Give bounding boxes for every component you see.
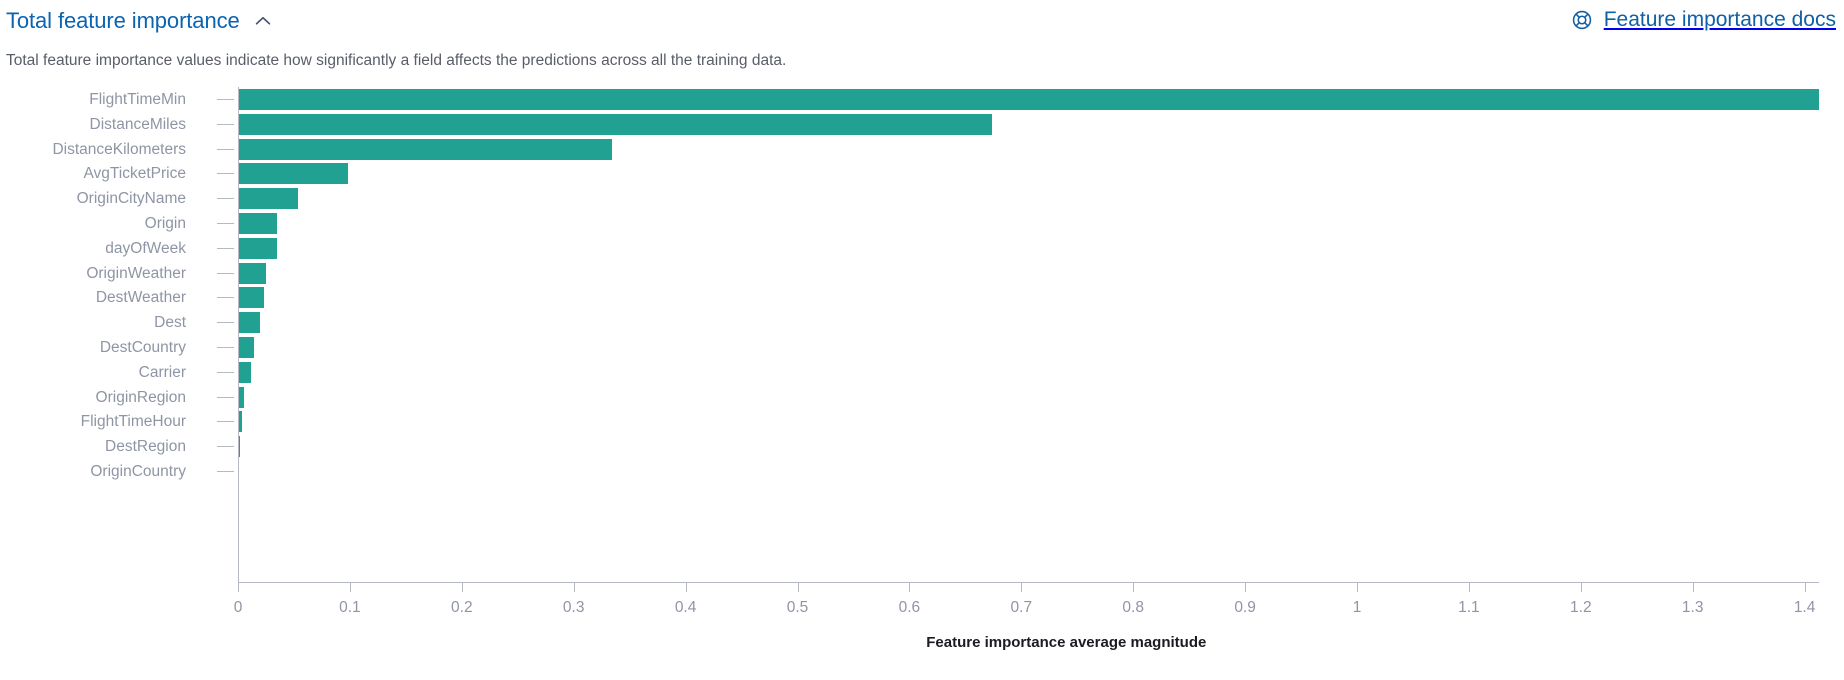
bar-category-label: Carrier: [0, 360, 186, 385]
bar-category-label: dayOfWeek: [0, 236, 186, 261]
x-axis-tickmark: [798, 583, 799, 592]
y-axis-line: [238, 87, 239, 582]
docs-link-label: Feature importance docs: [1604, 6, 1836, 34]
x-axis-tick-label: 0.5: [787, 598, 809, 618]
x-axis-tick-label: 1.4: [1794, 598, 1816, 618]
x-axis-tickmark: [1245, 583, 1246, 592]
chevron-up-icon[interactable]: [252, 10, 274, 32]
bar-row[interactable]: dayOfWeek: [0, 236, 1844, 261]
total-feature-importance-toggle[interactable]: Total feature importance: [6, 6, 274, 36]
bar-row[interactable]: OriginRegion: [0, 385, 1844, 410]
y-axis-tickmark: [217, 421, 234, 422]
x-axis-tickmark: [462, 583, 463, 592]
bar-row[interactable]: OriginCityName: [0, 186, 1844, 211]
x-axis-tick-label: 0.2: [451, 598, 473, 618]
y-axis-tickmark: [217, 471, 234, 472]
x-axis-tick-label: 1.3: [1682, 598, 1704, 618]
help-life-ring-icon: [1571, 9, 1593, 31]
bar-category-label: Dest: [0, 310, 186, 335]
bar-row[interactable]: Dest: [0, 310, 1844, 335]
bar[interactable]: [238, 362, 251, 383]
y-axis-tickmark: [217, 297, 234, 298]
x-axis-tick-label: 0: [234, 598, 243, 618]
y-axis-tickmark: [217, 124, 234, 125]
x-axis-tickmark: [350, 583, 351, 592]
bar[interactable]: [238, 89, 1819, 110]
y-axis-tickmark: [217, 223, 234, 224]
bar[interactable]: [238, 139, 612, 160]
x-axis-tick-label: 1: [1353, 598, 1362, 618]
y-axis-tickmark: [217, 397, 234, 398]
bar-row[interactable]: FlightTimeMin: [0, 87, 1844, 112]
bar[interactable]: [238, 312, 260, 333]
y-axis-tickmark: [217, 446, 234, 447]
bar[interactable]: [238, 213, 277, 234]
bar-category-label: AvgTicketPrice: [0, 161, 186, 186]
y-axis-tickmark: [217, 248, 234, 249]
y-axis-tickmark: [217, 99, 234, 100]
x-axis-tickmark: [1133, 583, 1134, 592]
bar-category-label: DistanceMiles: [0, 112, 186, 137]
x-axis-tick-label: 0.6: [899, 598, 921, 618]
bar-category-label: FlightTimeHour: [0, 409, 186, 434]
x-axis-tickmark: [1469, 583, 1470, 592]
x-axis-tick-label: 0.9: [1234, 598, 1256, 618]
x-axis-tickmark: [909, 583, 910, 592]
feature-importance-docs-link[interactable]: Feature importance docs: [1571, 6, 1838, 34]
bar-category-label: OriginCountry: [0, 459, 186, 484]
page-title: Total feature importance: [6, 6, 240, 36]
bar-row[interactable]: Carrier: [0, 360, 1844, 385]
x-axis-tickmark: [238, 583, 239, 592]
bar-row[interactable]: DestWeather: [0, 285, 1844, 310]
bar-category-label: FlightTimeMin: [0, 87, 186, 112]
x-axis-line: [238, 582, 1819, 583]
bar[interactable]: [238, 188, 298, 209]
x-axis-tick-label: 0.7: [1011, 598, 1033, 618]
feature-importance-chart: FlightTimeMinDistanceMilesDistanceKilome…: [0, 84, 1844, 674]
y-axis-tickmark: [217, 173, 234, 174]
bar-category-label: DestCountry: [0, 335, 186, 360]
x-axis-title: Feature importance average magnitude: [926, 634, 1206, 651]
bar-category-label: OriginWeather: [0, 261, 186, 286]
y-axis-tickmark: [217, 198, 234, 199]
panel-description: Total feature importance values indicate…: [0, 42, 1844, 72]
x-axis-tickmark: [1693, 583, 1694, 592]
bar-category-label: OriginRegion: [0, 385, 186, 410]
bar-category-label: DestRegion: [0, 434, 186, 459]
bar[interactable]: [238, 114, 992, 135]
y-axis-tickmark: [217, 149, 234, 150]
x-axis-tick-label: 0.8: [1122, 598, 1144, 618]
y-axis-tickmark: [217, 372, 234, 373]
x-axis-tick-label: 0.1: [339, 598, 361, 618]
bar[interactable]: [238, 337, 254, 358]
bar-category-label: DestWeather: [0, 285, 186, 310]
x-axis-tickmark: [1357, 583, 1358, 592]
x-axis-tickmark: [686, 583, 687, 592]
bar-row[interactable]: FlightTimeHour: [0, 409, 1844, 434]
x-axis-tickmark: [574, 583, 575, 592]
x-axis-tick-label: 0.4: [675, 598, 697, 618]
bar-row[interactable]: DistanceKilometers: [0, 137, 1844, 162]
bar[interactable]: [238, 287, 264, 308]
y-axis-tickmark: [217, 273, 234, 274]
x-axis-tick-label: 1.1: [1458, 598, 1480, 618]
bar-row[interactable]: AvgTicketPrice: [0, 161, 1844, 186]
x-axis-tickmark: [1021, 583, 1022, 592]
x-axis-tick-label: 1.2: [1570, 598, 1592, 618]
bar-row[interactable]: OriginWeather: [0, 261, 1844, 286]
x-axis-tickmark: [1805, 583, 1806, 592]
y-axis-tickmark: [217, 347, 234, 348]
x-axis-tick-label: 0.3: [563, 598, 585, 618]
chart-plot-area: FlightTimeMinDistanceMilesDistanceKilome…: [0, 84, 1844, 674]
bar-category-label: Origin: [0, 211, 186, 236]
bar-row[interactable]: DestRegion: [0, 434, 1844, 459]
y-axis-tickmark: [217, 322, 234, 323]
bar-row[interactable]: OriginCountry: [0, 459, 1844, 484]
bar[interactable]: [238, 238, 277, 259]
bar-row[interactable]: DistanceMiles: [0, 112, 1844, 137]
bar[interactable]: [238, 263, 266, 284]
panel-header: Total feature importance Feature importa…: [0, 0, 1844, 42]
bar-category-label: DistanceKilometers: [0, 137, 186, 162]
bar-row[interactable]: Origin: [0, 211, 1844, 236]
bar-row[interactable]: DestCountry: [0, 335, 1844, 360]
bar-category-label: OriginCityName: [0, 186, 186, 211]
x-axis-tickmark: [1581, 583, 1582, 592]
bar[interactable]: [238, 163, 348, 184]
